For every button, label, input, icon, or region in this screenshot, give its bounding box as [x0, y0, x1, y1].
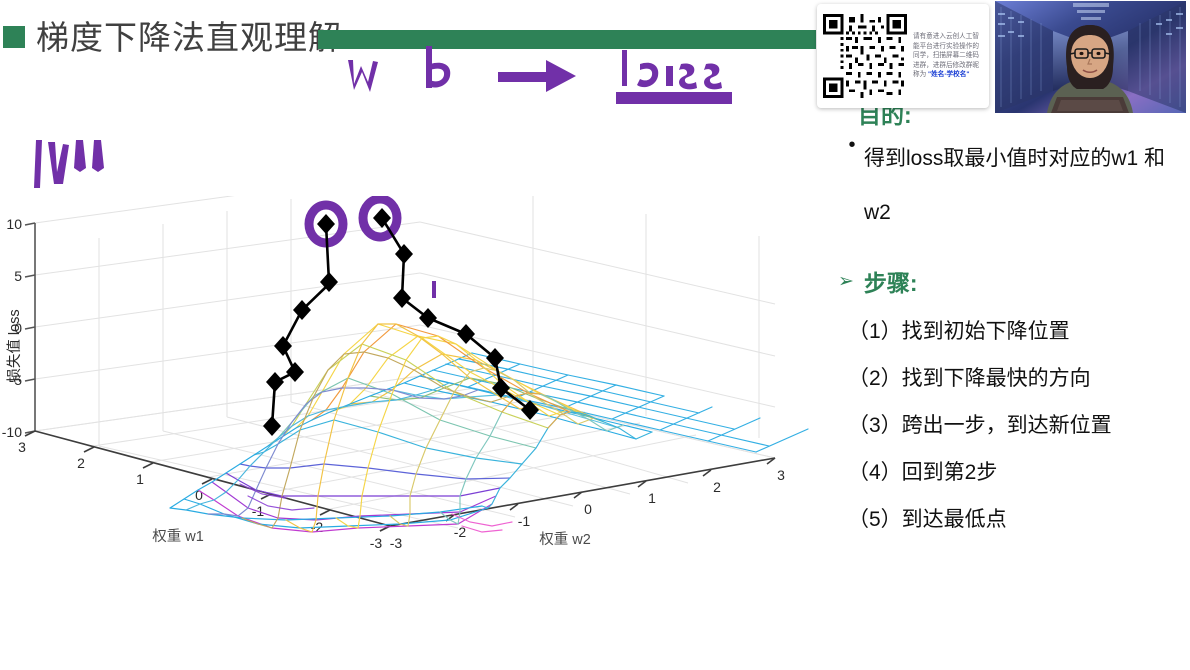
- svg-text:3: 3: [777, 467, 785, 483]
- handwriting-tick-mark: [432, 281, 436, 298]
- qr-text-line-1: 请有意进入云创人: [913, 33, 966, 40]
- steps-list: （1）找到初始下降位置 （2）找到下降最快的方向 （3）跨出一步，到达新位置 （…: [848, 308, 1188, 543]
- svg-text:-1: -1: [518, 513, 531, 529]
- goal-bullet-text: 得到loss取最小值时对应的w1 和w2: [864, 132, 1190, 240]
- steps-heading: 步骤:: [864, 264, 918, 298]
- svg-text:1: 1: [648, 490, 656, 506]
- z-axis-ticks: [25, 223, 35, 433]
- svg-text:10: 10: [6, 216, 22, 232]
- qr-code-icon[interactable]: [823, 14, 907, 98]
- svg-text:2: 2: [713, 479, 721, 495]
- steps-heading-row: ➢ 步骤:: [838, 264, 918, 298]
- svg-text:2: 2: [77, 455, 85, 471]
- laptop: [1051, 97, 1129, 113]
- slide-canvas: 梯度下降法直观理解: [0, 0, 1190, 670]
- svg-text:5: 5: [14, 268, 22, 284]
- qr-text-highlight: "姓名-学校名": [928, 71, 969, 78]
- svg-text:0: 0: [584, 501, 592, 517]
- list-item: （3）跨出一步，到达新位置: [848, 402, 1188, 449]
- svg-text:3: 3: [18, 439, 26, 455]
- qr-promo-card[interactable]: 请有意进入云创人工智能平台进行实验操作的同学，扫描屏幕二维码进群，进群后修改群昵…: [817, 4, 989, 108]
- list-item: （2）找到下降最快的方向: [848, 355, 1188, 402]
- right-content-column: 目的: • 得到loss取最小值时对应的w1 和w2 ➢ 步骤: （1）找到初始…: [822, 96, 1190, 576]
- svg-text:-3: -3: [390, 535, 403, 551]
- webcam-video-frame: [995, 1, 1186, 113]
- svg-text:-10: -10: [2, 424, 22, 440]
- dot-bullet-icon: •: [840, 132, 864, 158]
- list-item: （5）到达最低点: [848, 496, 1188, 543]
- list-item: （4）回到第2步: [848, 449, 1188, 496]
- svg-text:1: 1: [136, 471, 144, 487]
- qr-card-text: 请有意进入云创人工智能平台进行实验操作的同学，扫描屏幕二维码进群，进群后修改群昵…: [913, 32, 983, 80]
- y-axis-label: 权重 w2: [539, 531, 591, 548]
- page-title: 梯度下降法直观理解: [36, 15, 342, 61]
- svg-text:-3: -3: [370, 535, 383, 551]
- title-marker-icon: [3, 26, 25, 48]
- gradient-descent-surface-plot: 10 5 0 -5 -10 损失值 loss 3 2 1 0: [0, 196, 812, 556]
- handwriting-loss-label: [30, 128, 150, 198]
- list-item: （1）找到初始下降位置: [848, 308, 1188, 355]
- arrow-bullet-icon: ➢: [838, 272, 854, 291]
- presenter-webcam[interactable]: [995, 1, 1186, 113]
- x-axis-label: 权重 w1: [152, 528, 204, 545]
- z-axis-label: 损失值 loss: [6, 309, 23, 382]
- title-accent-bar: [318, 30, 816, 49]
- goal-bullet-row: • 得到loss取最小值时对应的w1 和w2: [840, 132, 1190, 240]
